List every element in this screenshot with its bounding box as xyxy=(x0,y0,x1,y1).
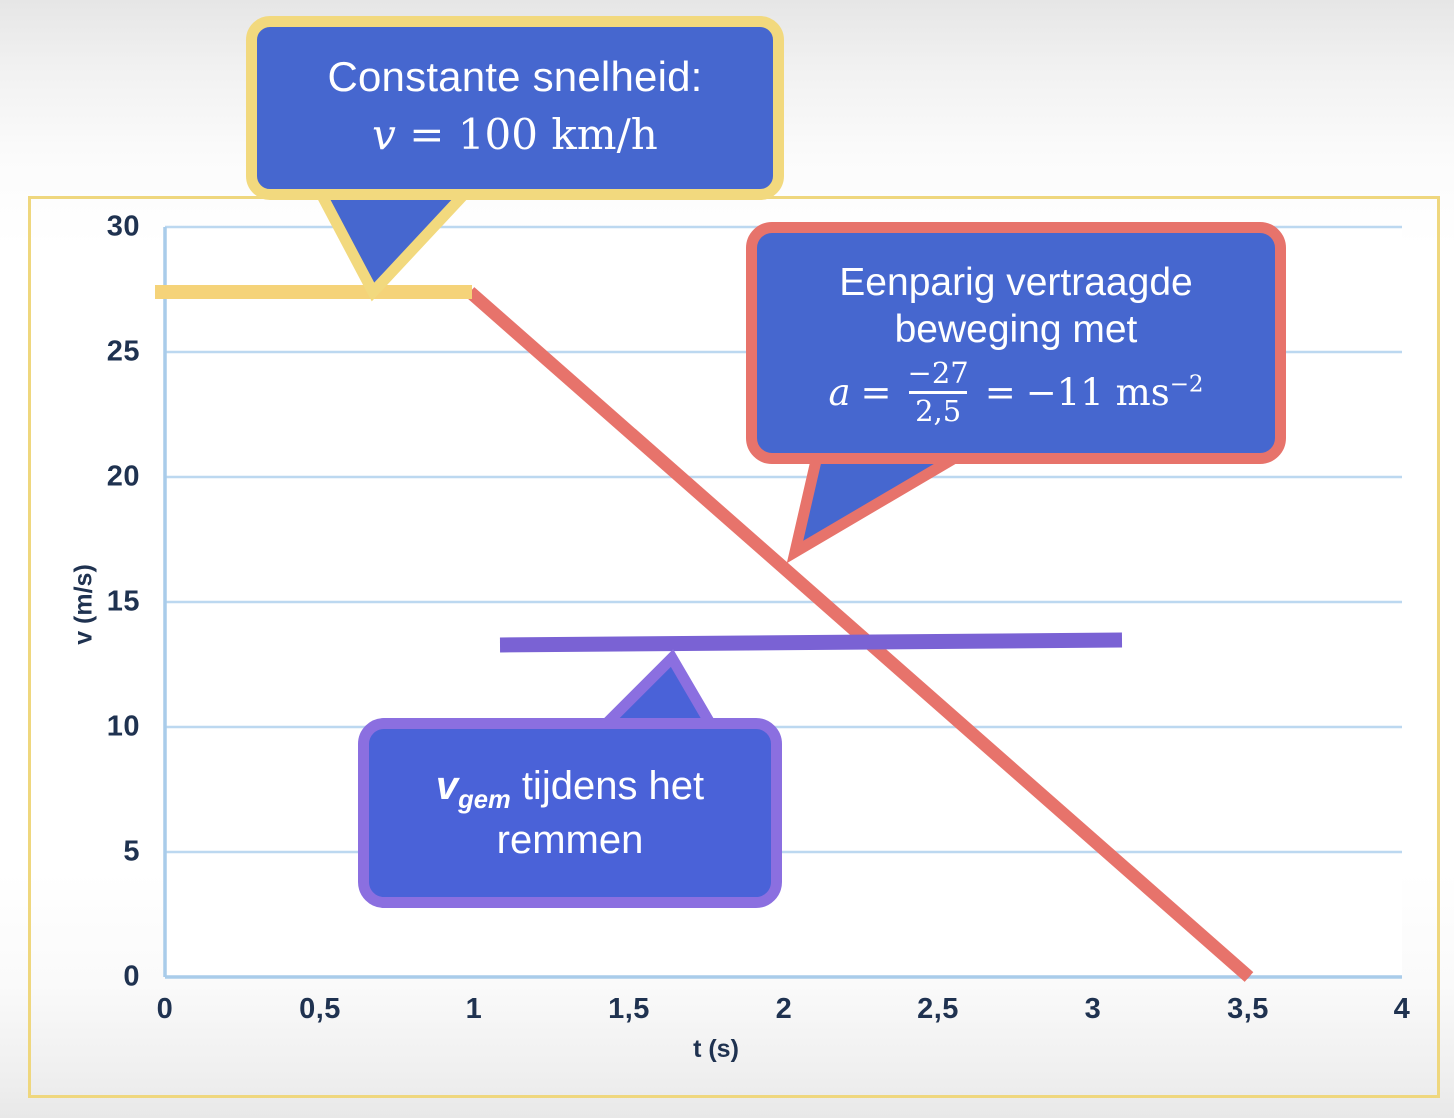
result-exponent: −2 xyxy=(1170,371,1204,397)
y-tick-label: 30 xyxy=(60,211,140,244)
callout-constant-speed-line1: Constante snelheid: xyxy=(327,53,702,102)
x-tick-label: 0 xyxy=(157,993,174,1026)
x-tick-label: 3,5 xyxy=(1227,993,1269,1026)
callout-vgem-line1-rest: tijdens het xyxy=(511,764,704,808)
slide-canvas: 30 25 20 15 10 5 0 0 0,5 1 1,5 2 2,5 3 3… xyxy=(0,0,1454,1118)
callout-vgem-line2: remmen xyxy=(497,816,644,864)
equals-sign-2: = xyxy=(985,371,1016,414)
result-value: −11 ms xyxy=(1026,371,1170,414)
callout-vgem-line1: vgem tijdens het xyxy=(436,762,704,816)
x-tick-label: 0,5 xyxy=(299,993,341,1026)
series-gemiddelde-snelheid xyxy=(500,640,1122,645)
x-tick-label: 3 xyxy=(1085,993,1102,1026)
callout-deceleration[interactable]: Eenparig vertraagde beweging met a = −27… xyxy=(746,222,1286,464)
x-tick-label: 2,5 xyxy=(917,993,959,1026)
y-tick-label: 25 xyxy=(60,336,140,369)
x-tick-label: 1 xyxy=(466,993,483,1026)
x-tick-label: 2 xyxy=(776,993,793,1026)
callout-deceleration-line2: beweging met xyxy=(895,307,1138,353)
callout-vgem[interactable]: vgem tijdens het remmen xyxy=(358,718,782,908)
symbol-a: a xyxy=(828,371,850,414)
equals-sign: = xyxy=(409,110,444,159)
symbol-subscript: gem xyxy=(458,786,511,814)
y-tick-label: 0 xyxy=(60,961,140,994)
symbol-v: v xyxy=(372,110,396,159)
equals-sign-1: = xyxy=(861,371,892,414)
fraction: −27 2,5 xyxy=(902,359,975,426)
speed-value: 100 km/h xyxy=(458,110,658,159)
x-tick-label: 1,5 xyxy=(608,993,650,1026)
y-tick-label: 10 xyxy=(60,711,140,744)
x-tick-label: 4 xyxy=(1394,993,1411,1026)
x-axis-title: t (s) xyxy=(693,1035,739,1064)
y-tick-label: 5 xyxy=(60,836,140,869)
y-axis-title: v (m/s) xyxy=(70,515,99,695)
fraction-denominator: 2,5 xyxy=(909,391,967,426)
acceleration-formula: a = −27 2,5 = −11 ms−2 xyxy=(828,359,1203,426)
symbol-v-gem: vgem xyxy=(436,764,511,808)
callout-deceleration-line1: Eenparig vertraagde xyxy=(839,260,1192,306)
fraction-numerator: −27 xyxy=(902,359,975,391)
acceleration-result: −11 ms−2 xyxy=(1026,371,1204,414)
callout-constant-speed-formula: v = 100 km/h xyxy=(372,108,658,163)
symbol-v: v xyxy=(436,764,458,808)
callout-constant-speed[interactable]: Constante snelheid: v = 100 km/h xyxy=(246,16,784,200)
y-tick-label: 20 xyxy=(60,461,140,494)
